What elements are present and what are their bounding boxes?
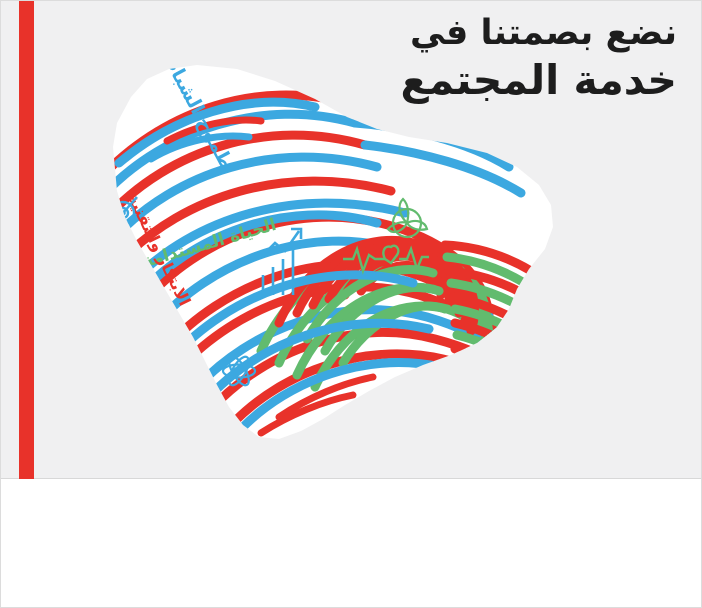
headline-line-1: نضع بصمتنا في bbox=[257, 13, 677, 54]
footer: SABB ساب sabb.comلمعرفة المزيد تفضل بزيا… bbox=[1, 479, 702, 608]
saudi-map-fingerprint-artwork: طموح الشباب الحياة المستدامة الابتكار وا… bbox=[47, 51, 587, 451]
advertisement-root: نضع بصمتنا في خدمة المجتمع bbox=[0, 0, 702, 608]
